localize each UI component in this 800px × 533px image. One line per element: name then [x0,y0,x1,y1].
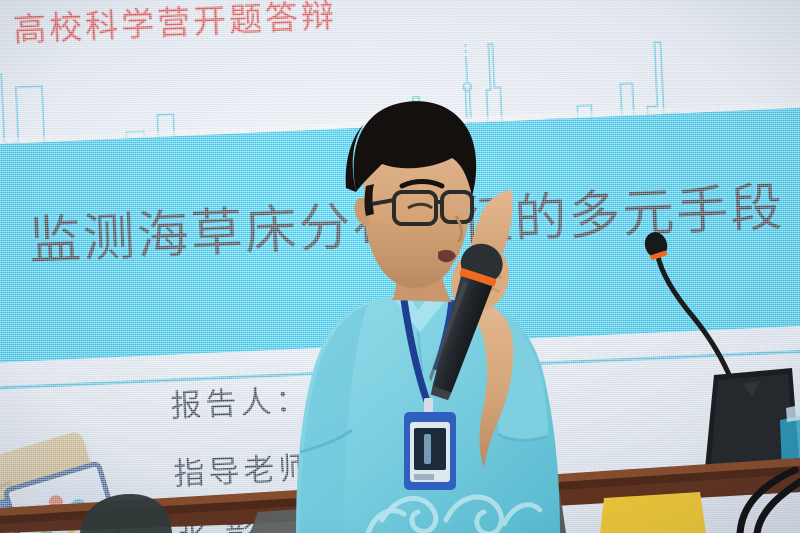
student-presenter [0,0,800,533]
screenshot-root: NOLOGY, CHINESE ACADEMY OF SCIENCES 高校科学… [0,0,800,533]
id-badge [404,412,456,490]
presenter-head [346,101,476,287]
